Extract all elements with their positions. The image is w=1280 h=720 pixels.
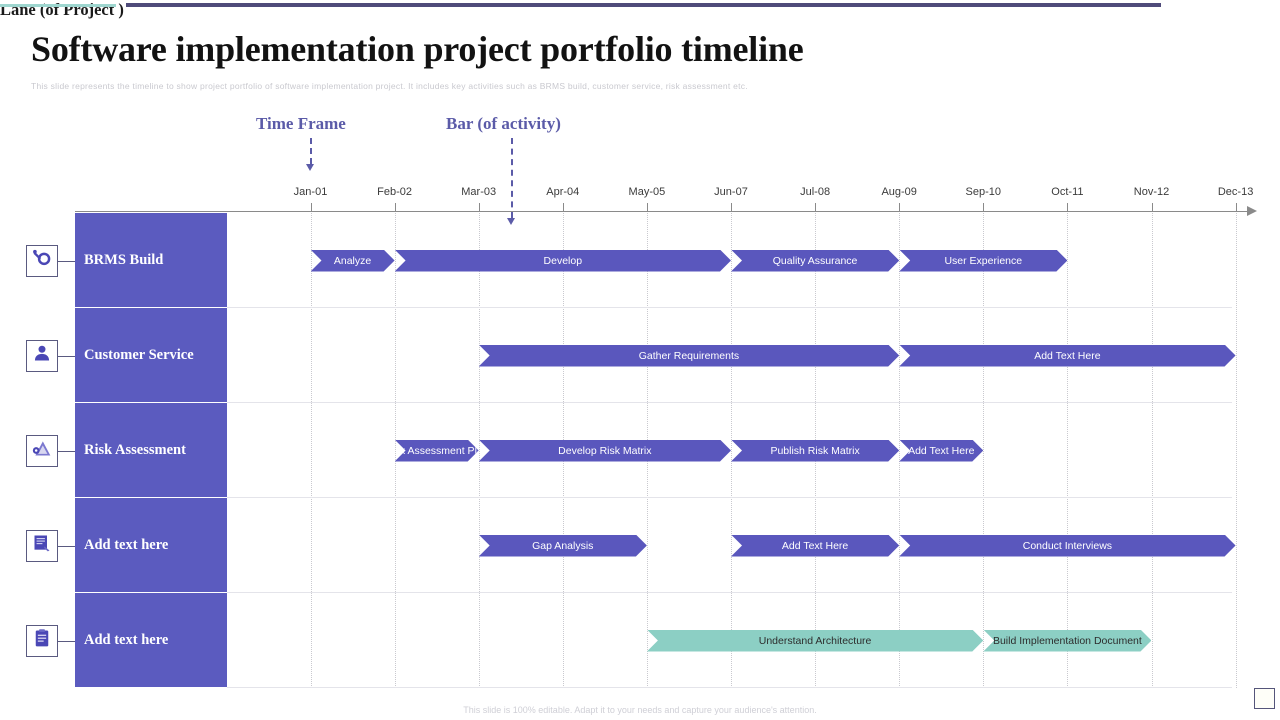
month-label-oct-11: Oct-11 bbox=[1051, 186, 1083, 198]
lane-label-2: Risk Assessment bbox=[84, 442, 186, 459]
timeline-axis-arrow-icon bbox=[1247, 206, 1257, 216]
activity-bar-label: Conduct Interviews bbox=[1019, 540, 1116, 552]
activity-bar-0-1[interactable]: Develop bbox=[395, 250, 731, 272]
activity-bar-label: Add Text Here bbox=[904, 445, 978, 457]
month-label-nov-12: Nov-12 bbox=[1134, 186, 1169, 198]
corner-placeholder bbox=[1254, 688, 1275, 709]
lane-icon-connector-2 bbox=[58, 451, 75, 452]
activity-bar-label: Gap Analysis bbox=[528, 540, 597, 552]
lane-icon-connector-0 bbox=[58, 261, 75, 262]
activity-bar-label: Develop bbox=[540, 255, 587, 267]
activity-bar-label: Publish Risk Matrix bbox=[766, 445, 863, 457]
month-label-dec-13: Dec-13 bbox=[1218, 186, 1253, 198]
activity-bar-4-0[interactable]: Understand Architecture bbox=[647, 630, 983, 652]
lane-label-0: BRMS Build bbox=[84, 252, 163, 269]
activity-bar-label: Understand Architecture bbox=[755, 635, 876, 647]
activity-bar-label: Add Text Here bbox=[778, 540, 852, 552]
month-label-aug-09: Aug-09 bbox=[881, 186, 916, 198]
month-label-mar-03: Mar-03 bbox=[461, 186, 496, 198]
gridline-dec-13 bbox=[1236, 213, 1237, 688]
activity-bar-0-2[interactable]: Quality Assurance bbox=[731, 250, 899, 272]
month-label-apr-04: Apr-04 bbox=[546, 186, 579, 198]
activity-bar-0-0[interactable]: Analyze bbox=[311, 250, 395, 272]
lane-icon-box-0[interactable] bbox=[26, 245, 58, 277]
activity-bar-4-1[interactable]: Build Implementation Document bbox=[983, 630, 1151, 652]
slide-root: Software implementation project portfoli… bbox=[0, 0, 1280, 720]
activity-bar-label: Build Implementation Document bbox=[989, 635, 1146, 647]
lane-icon-box-2[interactable] bbox=[26, 435, 58, 467]
lane-label-1: Customer Service bbox=[84, 347, 194, 364]
clipboard-list-icon bbox=[32, 628, 52, 653]
activity-bar-1-1[interactable]: Add Text Here bbox=[899, 345, 1235, 367]
month-label-jan-01: Jan-01 bbox=[294, 186, 328, 198]
lane-icon-connector-1 bbox=[58, 356, 75, 357]
document-pen-icon bbox=[32, 533, 52, 558]
gantt-chart: Jan-01Feb-02Mar-03Apr-04May-05Jun-07Jul-… bbox=[0, 0, 1280, 720]
activity-bar-1-0[interactable]: Gather Requirements bbox=[479, 345, 900, 367]
activity-bar-3-2[interactable]: Conduct Interviews bbox=[899, 535, 1235, 557]
timeline-axis bbox=[75, 211, 1248, 212]
activity-bar-label: Analyze bbox=[330, 255, 375, 267]
user-icon bbox=[32, 343, 52, 368]
lane-icon-box-4[interactable] bbox=[26, 625, 58, 657]
month-label-feb-02: Feb-02 bbox=[377, 186, 412, 198]
wrench-gear-icon bbox=[32, 248, 52, 273]
lane-label-4: Add text here bbox=[84, 632, 168, 649]
lane-icon-connector-4 bbox=[58, 641, 75, 642]
activity-bar-label: Add Text Here bbox=[1030, 350, 1104, 362]
lane-label-3: Add text here bbox=[84, 537, 168, 554]
activity-bar-label: Gather Requirements bbox=[635, 350, 743, 362]
month-label-jul-08: Jul-08 bbox=[800, 186, 830, 198]
month-label-sep-10: Sep-10 bbox=[966, 186, 1001, 198]
activity-bar-3-0[interactable]: Gap Analysis bbox=[479, 535, 647, 557]
warning-gear-icon bbox=[32, 438, 52, 463]
activity-bar-label: Quality Assurance bbox=[769, 255, 862, 267]
activity-bar-2-3[interactable]: Add Text Here bbox=[899, 440, 983, 462]
footer-note: This slide is 100% editable. Adapt it to… bbox=[0, 705, 1280, 715]
month-label-jun-07: Jun-07 bbox=[714, 186, 748, 198]
month-label-may-05: May-05 bbox=[629, 186, 666, 198]
activity-bar-2-2[interactable]: Publish Risk Matrix bbox=[731, 440, 899, 462]
activity-bar-label: Develop Risk Matrix bbox=[554, 445, 655, 457]
activity-bar-label: User Experience bbox=[940, 255, 1026, 267]
activity-bar-2-1[interactable]: Develop Risk Matrix bbox=[479, 440, 731, 462]
lane-icon-box-3[interactable] bbox=[26, 530, 58, 562]
activity-bar-0-3[interactable]: User Experience bbox=[899, 250, 1067, 272]
activity-bar-2-0[interactable]: Risk Assessment Plan bbox=[395, 440, 479, 462]
lane-icon-box-1[interactable] bbox=[26, 340, 58, 372]
activity-bar-3-1[interactable]: Add Text Here bbox=[731, 535, 899, 557]
lane-icon-connector-3 bbox=[58, 546, 75, 547]
